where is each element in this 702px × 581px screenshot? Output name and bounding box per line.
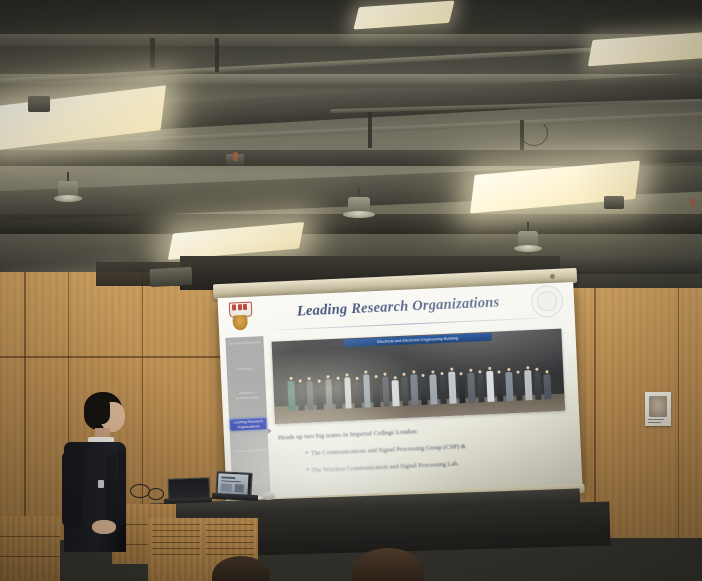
lecture-hall-photo: Leading Research Organizations Learning … [0,0,702,581]
photo-person [496,374,503,401]
louvre-slat [152,524,200,525]
louvre-slat [152,536,200,537]
photo-person [505,372,513,401]
wall-rail-left [0,356,232,358]
photo-person [420,378,427,405]
slide-bullet-1: ✦The Communications and Signal Processin… [305,443,466,457]
photo-person [401,377,408,406]
photo-person [486,371,494,402]
slide-lead-text: Heads up two big teams in Imperial Colle… [278,428,418,441]
louvre-slat [206,548,254,549]
sidebar-item-leading-research-organizations[interactable]: Leading Research Organizations [230,418,266,431]
wall-seam-1 [24,272,26,540]
photo-person [534,372,541,400]
imperial-crest-icon [229,302,251,331]
laptop-open-display[interactable] [217,473,248,495]
presenter-lanyard [89,442,117,483]
photo-person [410,374,418,405]
ceiling-junction-box-1 [28,96,50,112]
slide-bullet-1-text: The Communications and Signal Processing… [311,443,466,457]
computer-mouse[interactable] [262,492,275,500]
photo-person [458,376,465,403]
group-photo: Electrical and Electronic Engineering Bu… [272,329,565,424]
projection-screen: Leading Research Organizations Learning … [209,264,592,521]
louvre-slat [152,554,200,555]
roller-knob [550,274,555,279]
photo-person [429,374,437,404]
presenter [62,392,154,552]
sidebar-item-entering-ic[interactable]: Entering IC [228,366,264,372]
louvre-slat [206,524,254,525]
louvre-slat [206,542,254,543]
photo-person [353,381,361,408]
louvre-slat [152,542,200,543]
louvre-slat [152,530,200,531]
photo-person [372,379,380,407]
bullet-marker-icon: ✦ [305,450,309,456]
hanging-cable-loop [520,120,548,146]
photo-person [306,381,313,410]
presenter-id-badge [98,480,104,488]
photo-person [467,373,475,403]
wall-poster [645,392,671,426]
photo-person [391,380,399,406]
louvre-slat [206,530,254,531]
seal-watermark-icon [530,285,563,318]
photo-person [515,374,522,400]
presenter-hair-front [84,394,110,424]
sidebar-item-campus-information[interactable]: Campus Information [231,448,267,454]
sidebar-item-academic-achievements[interactable]: Academic Achievements [229,390,265,401]
audience-head-right [352,548,424,581]
ceiling-hanger-3 [368,112,372,148]
presenter-left-arm [62,450,82,528]
photo-banner-label: Electrical and Electronic Engineering Bu… [344,333,492,348]
photo-person [334,381,342,409]
louvre-slat [152,548,200,549]
sprinkler-head-2-icon [690,198,695,207]
photo-person [382,377,389,407]
slide-bullet-2: ✦The Wireless Communication and Signal P… [305,460,459,474]
wall-seam-5 [678,288,679,538]
ceiling-hanger-1 [150,38,155,68]
presentation-slide: Leading Research Organizations Learning … [218,282,583,503]
screen-surface: Leading Research Organizations Learning … [218,282,583,503]
wall-speaker [150,267,193,287]
sprinkler-head-icon [233,152,238,161]
photo-person [439,376,446,404]
ceiling [0,0,702,292]
podium-left-cabinet [0,516,60,581]
photo-person [477,374,484,402]
louvre-slat [206,536,254,537]
photo-person [524,370,532,400]
photo-person [344,377,351,408]
ceiling-junction-box-3 [604,196,624,209]
presenter-hands [92,520,116,534]
photo-person [316,384,324,410]
ceiling-hanger-2 [215,38,219,72]
photo-person [298,383,305,410]
wall-seam-4 [594,288,596,538]
photo-person [543,374,551,399]
sidebar-active-arrow-icon [267,428,271,434]
photo-person [363,374,370,407]
slide-bullet-2-text: The Wireless Communication and Signal Pr… [312,460,460,474]
slide-title: Leading Research Organizations [278,294,519,322]
photo-person [287,381,295,411]
cabinet-line-2 [0,556,60,557]
bullet-marker-2-icon: ✦ [305,467,309,473]
photo-person [325,379,332,409]
louvre-slat [206,554,254,555]
cabinet-line-1 [0,536,60,537]
photo-person [448,371,456,403]
sidebar-item-learning-experience[interactable]: Learning Experience [227,340,263,346]
